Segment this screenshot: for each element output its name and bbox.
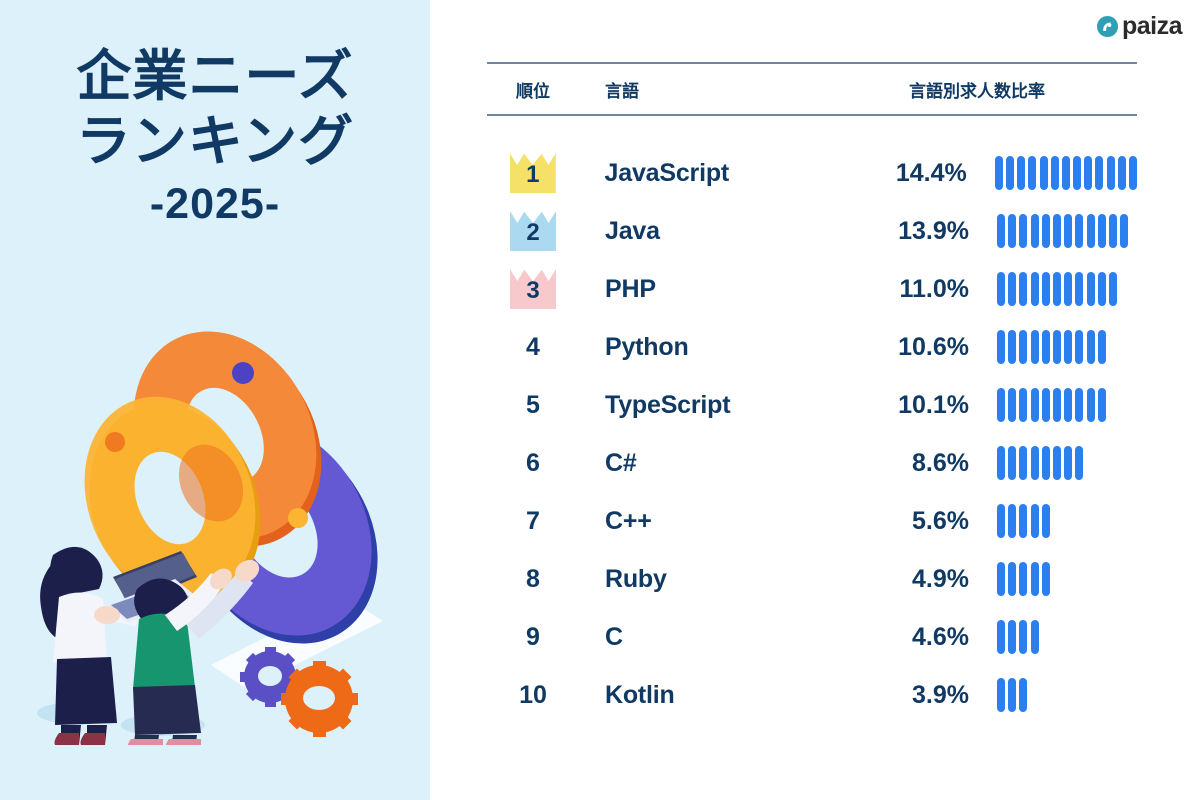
bar-segment [1019, 562, 1027, 596]
rank-number: 2 [526, 221, 539, 251]
bar-segment [1008, 678, 1016, 712]
rank-cell: 8 [487, 567, 579, 592]
percent-value: 4.6% [824, 623, 969, 652]
crown-icon: 1 [510, 153, 556, 193]
language-name: C# [579, 449, 824, 478]
infographic-canvas: 企業ニーズ ランキング -2025- [0, 0, 1200, 800]
rank-cell: 4 [487, 335, 579, 360]
bar-segment [1008, 504, 1016, 538]
rank-cell: 7 [487, 509, 579, 534]
table-row: 7C++5.6% [487, 492, 1137, 550]
bar-segment [1075, 330, 1083, 364]
title-block: 企業ニーズ ランキング -2025- [0, 44, 430, 229]
bar-segment [1028, 156, 1036, 190]
paiza-circle-icon [1096, 15, 1119, 38]
bar-segment [1019, 620, 1027, 654]
bar-segment [1019, 330, 1027, 364]
paiza-logo[interactable]: paiza [1096, 14, 1182, 39]
bar-segment [1040, 156, 1048, 190]
rank-number: 7 [526, 509, 540, 534]
rank-number: 3 [526, 279, 539, 309]
language-name: TypeScript [579, 391, 824, 420]
table-row: 1JavaScript14.4% [487, 144, 1137, 202]
bar-segment [1075, 446, 1083, 480]
percent-value: 10.1% [824, 391, 969, 420]
bar-segment [997, 504, 1005, 538]
rank-cell: 1 [487, 153, 579, 193]
bar-segment [1031, 562, 1039, 596]
bar-segment [1098, 214, 1106, 248]
language-name: Kotlin [579, 681, 824, 710]
title-line-2: ランキング [0, 109, 430, 174]
header-ratio: 言語別求人数比率 [824, 77, 1137, 102]
table-row: 4Python10.6% [487, 318, 1137, 376]
bar-chart [969, 214, 1128, 248]
bar-segment [995, 156, 1003, 190]
bar-segment [1031, 620, 1039, 654]
bar-segment [1064, 446, 1072, 480]
bar-segment [1053, 272, 1061, 306]
bar-chart [969, 388, 1106, 422]
bar-segment [1053, 214, 1061, 248]
isometric-rings-people-gears-illustration [15, 315, 415, 745]
header-rank: 順位 [487, 77, 579, 102]
bar-segment [1051, 156, 1059, 190]
bar-chart [969, 562, 1050, 596]
bar-segment [1098, 388, 1106, 422]
header-language: 言語 [579, 77, 824, 102]
bar-segment [1087, 272, 1095, 306]
bar-chart [969, 446, 1083, 480]
bar-segment [1064, 330, 1072, 364]
bar-segment [1073, 156, 1081, 190]
bar-segment [1098, 272, 1106, 306]
table-row: 2Java13.9% [487, 202, 1137, 260]
left-title-panel: 企業ニーズ ランキング -2025- [0, 0, 430, 800]
bar-segment [1008, 388, 1016, 422]
crown-icon: 3 [510, 269, 556, 309]
rank-number: 4 [526, 335, 540, 360]
bar-segment [1042, 214, 1050, 248]
ranking-table: 順位 言語 言語別求人数比率 1JavaScript14.4%2Java13.9… [487, 62, 1137, 724]
bar-segment [1095, 156, 1103, 190]
bar-segment [997, 678, 1005, 712]
bar-segment [1019, 678, 1027, 712]
language-name: PHP [579, 275, 824, 304]
language-name: C++ [579, 507, 824, 536]
bar-segment [1107, 156, 1115, 190]
bar-segment [1053, 388, 1061, 422]
table-row: 5TypeScript10.1% [487, 376, 1137, 434]
bar-segment [997, 562, 1005, 596]
bar-segment [1064, 214, 1072, 248]
rank-cell: 9 [487, 625, 579, 650]
bar-segment [997, 330, 1005, 364]
bar-segment [1042, 504, 1050, 538]
bar-segment [1042, 330, 1050, 364]
bar-segment [1129, 156, 1137, 190]
bar-chart [969, 272, 1117, 306]
table-row: 10Kotlin3.9% [487, 666, 1137, 724]
bar-segment [1008, 214, 1016, 248]
bar-chart [969, 678, 1027, 712]
bar-segment [1098, 330, 1106, 364]
bar-segment [997, 214, 1005, 248]
bar-segment [1017, 156, 1025, 190]
rank-number: 10 [519, 683, 547, 708]
bar-segment [1008, 620, 1016, 654]
bar-segment [1075, 272, 1083, 306]
percent-value: 4.9% [824, 565, 969, 594]
table-row: 8Ruby4.9% [487, 550, 1137, 608]
rank-number: 9 [526, 625, 540, 650]
table-header-row: 順位 言語 言語別求人数比率 [487, 64, 1137, 114]
bar-segment [1064, 272, 1072, 306]
percent-value: 13.9% [824, 217, 969, 246]
bar-segment [1053, 446, 1061, 480]
bar-segment [1084, 156, 1092, 190]
bar-segment [1075, 214, 1083, 248]
title-year: -2025- [0, 180, 430, 229]
bar-segment [997, 388, 1005, 422]
bar-segment [1006, 156, 1014, 190]
percent-value: 14.4% [822, 159, 966, 188]
rank-cell: 10 [487, 683, 579, 708]
language-name: C [579, 623, 824, 652]
percent-value: 3.9% [824, 681, 969, 710]
rank-cell: 2 [487, 211, 579, 251]
rank-number: 8 [526, 567, 540, 592]
bar-segment [1053, 330, 1061, 364]
bar-segment [1019, 214, 1027, 248]
paiza-logo-text: paiza [1122, 14, 1182, 39]
rank-cell: 3 [487, 269, 579, 309]
bar-segment [1008, 446, 1016, 480]
percent-value: 10.6% [824, 333, 969, 362]
rank-number: 1 [526, 163, 539, 193]
bar-chart [967, 156, 1137, 190]
bar-segment [1031, 214, 1039, 248]
language-name: JavaScript [579, 159, 823, 188]
percent-value: 11.0% [824, 275, 969, 304]
bar-segment [1042, 272, 1050, 306]
bar-segment [997, 620, 1005, 654]
table-row: 3PHP11.0% [487, 260, 1137, 318]
table-row: 9C4.6% [487, 608, 1137, 666]
bar-segment [1031, 446, 1039, 480]
bar-segment [1042, 562, 1050, 596]
table-row: 6C#8.6% [487, 434, 1137, 492]
percent-value: 8.6% [824, 449, 969, 478]
bar-segment [1008, 272, 1016, 306]
bar-chart [969, 504, 1050, 538]
rank-cell: 5 [487, 393, 579, 418]
bar-segment [997, 272, 1005, 306]
bar-segment [1019, 388, 1027, 422]
title-line-1: 企業ニーズ [0, 44, 430, 109]
bar-segment [1118, 156, 1126, 190]
language-name: Java [579, 217, 824, 246]
bar-segment [1019, 446, 1027, 480]
bar-segment [1109, 214, 1117, 248]
header-rule-bottom [487, 114, 1137, 116]
bar-segment [1062, 156, 1070, 190]
language-name: Python [579, 333, 824, 362]
bar-segment [997, 446, 1005, 480]
bar-segment [1008, 562, 1016, 596]
bar-segment [1087, 330, 1095, 364]
bar-segment [1064, 388, 1072, 422]
bar-chart [969, 620, 1039, 654]
bar-segment [1042, 446, 1050, 480]
bar-segment [1075, 388, 1083, 422]
percent-value: 5.6% [824, 507, 969, 536]
bar-segment [1031, 330, 1039, 364]
bar-segment [1087, 388, 1095, 422]
crown-icon: 2 [510, 211, 556, 251]
bar-segment [1019, 504, 1027, 538]
rank-number: 6 [526, 451, 540, 476]
bar-segment [1042, 388, 1050, 422]
bar-segment [1031, 388, 1039, 422]
rank-number: 5 [526, 393, 540, 418]
bar-segment [1087, 214, 1095, 248]
bar-segment [1019, 272, 1027, 306]
bar-segment [1008, 330, 1016, 364]
bar-segment [1031, 272, 1039, 306]
bar-segment [1031, 504, 1039, 538]
language-name: Ruby [579, 565, 824, 594]
rank-cell: 6 [487, 451, 579, 476]
table-body: 1JavaScript14.4%2Java13.9%3PHP11.0%4Pyth… [487, 144, 1137, 724]
bar-segment [1120, 214, 1128, 248]
bar-segment [1109, 272, 1117, 306]
bar-chart [969, 330, 1106, 364]
